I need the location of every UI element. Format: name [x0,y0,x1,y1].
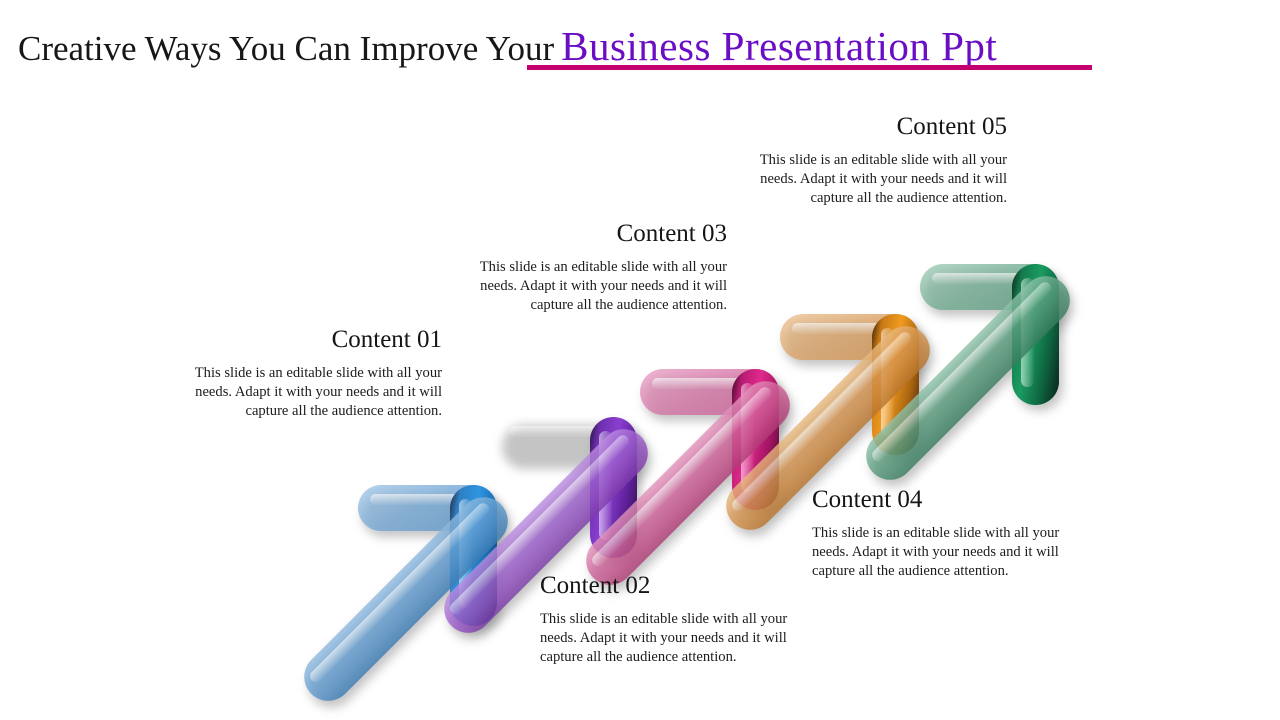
content-02-heading: Content 02 [540,571,802,601]
content-block-05: Content 05 This slide is an editable sli… [745,112,1007,209]
content-04-body: This slide is an editable slide with all… [812,524,1074,582]
content-01-heading: Content 01 [180,325,442,355]
content-block-02: Content 02 This slide is an editable sli… [540,571,802,668]
content-block-03: Content 03 This slide is an editable sli… [465,219,727,316]
content-05-body: This slide is an editable slide with all… [745,151,1007,209]
content-block-04: Content 04 This slide is an editable sli… [812,485,1074,582]
content-block-01: Content 01 This slide is an editable sli… [180,325,442,422]
content-03-body: This slide is an editable slide with all… [465,258,727,316]
arrow-05-green[interactable] [912,258,1112,478]
presentation-slide: Creative Ways You Can Improve YourBusine… [0,0,1280,720]
content-01-body: This slide is an editable slide with all… [180,364,442,422]
content-05-heading: Content 05 [745,112,1007,142]
content-03-heading: Content 03 [465,219,727,249]
content-02-body: This slide is an editable slide with all… [540,610,802,668]
content-04-heading: Content 04 [812,485,1074,515]
